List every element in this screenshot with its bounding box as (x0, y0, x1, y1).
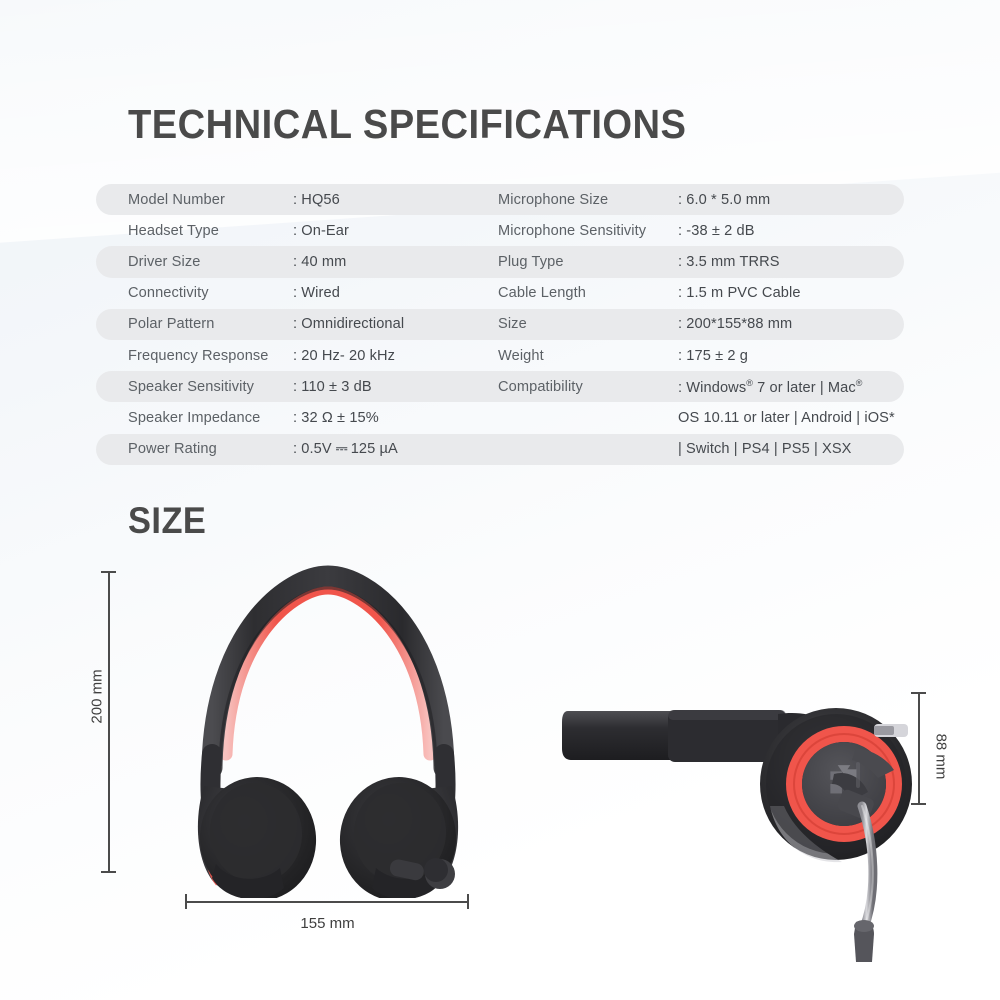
spec-cell-right: Weight: 175 ± 2 g (495, 340, 904, 371)
depth-dimension-cap-bottom (911, 803, 926, 805)
spec-label: Model Number (128, 192, 293, 208)
spec-cell-right: Microphone Size: 6.0 * 5.0 mm (495, 184, 904, 215)
depth-dimension-line (918, 693, 920, 804)
width-dimension-cap-left (185, 894, 187, 909)
spec-cell-right: Plug Type: 3.5 mm TRRS (495, 246, 904, 277)
spec-label: Frequency Response (128, 348, 293, 364)
width-dimension-label: 155 mm (186, 915, 469, 932)
size-title: SIZE (128, 500, 206, 542)
spec-cell-left: Headset Type: On-Ear (96, 215, 495, 246)
spec-label: Cable Length (498, 285, 678, 301)
spec-value: : 200*155*88 mm (678, 316, 792, 332)
height-dimension-label: 200 mm (89, 662, 106, 732)
spec-value: : -38 ± 2 dB (678, 223, 755, 239)
height-dimension-cap-bottom (101, 871, 116, 873)
headset-side-view (556, 666, 916, 966)
spec-value: : 175 ± 2 g (678, 348, 748, 364)
spec-label: Microphone Size (498, 192, 678, 208)
spec-cell-right: Cable Length: 1.5 m PVC Cable (495, 278, 904, 309)
spec-cell-right: | Switch | PS4 | PS5 | XSX (495, 434, 904, 465)
spec-row: Speaker Impedance: 32 Ω ± 15%OS 10.11 or… (96, 402, 904, 433)
headset-front-view (168, 558, 488, 898)
spec-label: Speaker Sensitivity (128, 379, 293, 395)
spec-row: Speaker Sensitivity: 110 ± 3 dBCompatibi… (96, 371, 904, 402)
spec-cell-left: Speaker Impedance: 32 Ω ± 15% (96, 402, 495, 433)
spec-value: : 1.5 m PVC Cable (678, 285, 801, 301)
spec-cell-left: Model Number: HQ56 (96, 184, 495, 215)
spec-label: Size (498, 316, 678, 332)
specifications-table: Model Number: HQ56Microphone Size: 6.0 *… (96, 184, 904, 465)
spec-value: : 32 Ω ± 15% (293, 410, 379, 426)
spec-value: : 3.5 mm TRRS (678, 254, 780, 270)
headset-side-illustration (556, 666, 916, 966)
spec-value: OS 10.11 or later | Android | iOS* (678, 410, 895, 426)
depth-dimension-cap-top (911, 692, 926, 694)
spec-sheet-page: TECHNICAL SPECIFICATIONS Model Number: H… (0, 0, 1000, 1000)
spec-label: Connectivity (128, 285, 293, 301)
spec-row: Connectivity: WiredCable Length: 1.5 m P… (96, 278, 904, 309)
spec-cell-right: Size: 200*155*88 mm (495, 309, 904, 340)
spec-value: : 110 ± 3 dB (293, 379, 372, 395)
spec-row: Model Number: HQ56Microphone Size: 6.0 *… (96, 184, 904, 215)
spec-label: Driver Size (128, 254, 293, 270)
height-dimension-line (108, 572, 110, 872)
spec-row: Headset Type: On-EarMicrophone Sensitivi… (96, 215, 904, 246)
spec-value: : Windows® 7 or later | Mac® (678, 378, 863, 396)
spec-label: Compatibility (498, 379, 678, 395)
spec-value: | Switch | PS4 | PS5 | XSX (678, 441, 852, 457)
spec-cell-left: Speaker Sensitivity: 110 ± 3 dB (96, 371, 495, 402)
spec-value: : Wired (293, 285, 340, 301)
spec-value: : HQ56 (293, 192, 340, 208)
spec-label: Headset Type (128, 223, 293, 239)
spec-row: Frequency Response: 20 Hz- 20 kHzWeight:… (96, 340, 904, 371)
spec-cell-left: Power Rating: 0.5V ⎓ 125 µA (96, 434, 495, 465)
spec-label: Microphone Sensitivity (498, 223, 678, 239)
spec-value: : Omnidirectional (293, 316, 404, 332)
width-dimension-cap-right (467, 894, 469, 909)
spec-label: Weight (498, 348, 678, 364)
spec-cell-left: Driver Size: 40 mm (96, 246, 495, 277)
spec-value: : 40 mm (293, 254, 346, 270)
width-dimension-line (186, 901, 469, 903)
spec-cell-left: Connectivity: Wired (96, 278, 495, 309)
height-dimension-cap-top (101, 571, 116, 573)
spec-row: Polar Pattern: OmnidirectionalSize: 200*… (96, 309, 904, 340)
spec-label: Plug Type (498, 254, 678, 270)
spec-cell-right: Microphone Sensitivity: -38 ± 2 dB (495, 215, 904, 246)
depth-dimension-label: 88 mm (933, 722, 950, 792)
spec-row: Power Rating: 0.5V ⎓ 125 µA| Switch | PS… (96, 434, 904, 465)
spec-value: : 20 Hz- 20 kHz (293, 348, 395, 364)
spec-cell-right: OS 10.11 or later | Android | iOS* (495, 402, 904, 433)
spec-label: Polar Pattern (128, 316, 293, 332)
spec-cell-left: Frequency Response: 20 Hz- 20 kHz (96, 340, 495, 371)
spec-label: Power Rating (128, 441, 293, 457)
spec-value: : 6.0 * 5.0 mm (678, 192, 770, 208)
spec-value: : 0.5V ⎓ 125 µA (293, 441, 398, 457)
spec-value: : On-Ear (293, 223, 349, 239)
spec-cell-right: Compatibility: Windows® 7 or later | Mac… (495, 371, 904, 402)
spec-row: Driver Size: 40 mmPlug Type: 3.5 mm TRRS (96, 246, 904, 277)
technical-specifications-title: TECHNICAL SPECIFICATIONS (128, 101, 686, 148)
spec-cell-left: Polar Pattern: Omnidirectional (96, 309, 495, 340)
headset-front-illustration (168, 558, 488, 898)
spec-label: Speaker Impedance (128, 410, 293, 426)
